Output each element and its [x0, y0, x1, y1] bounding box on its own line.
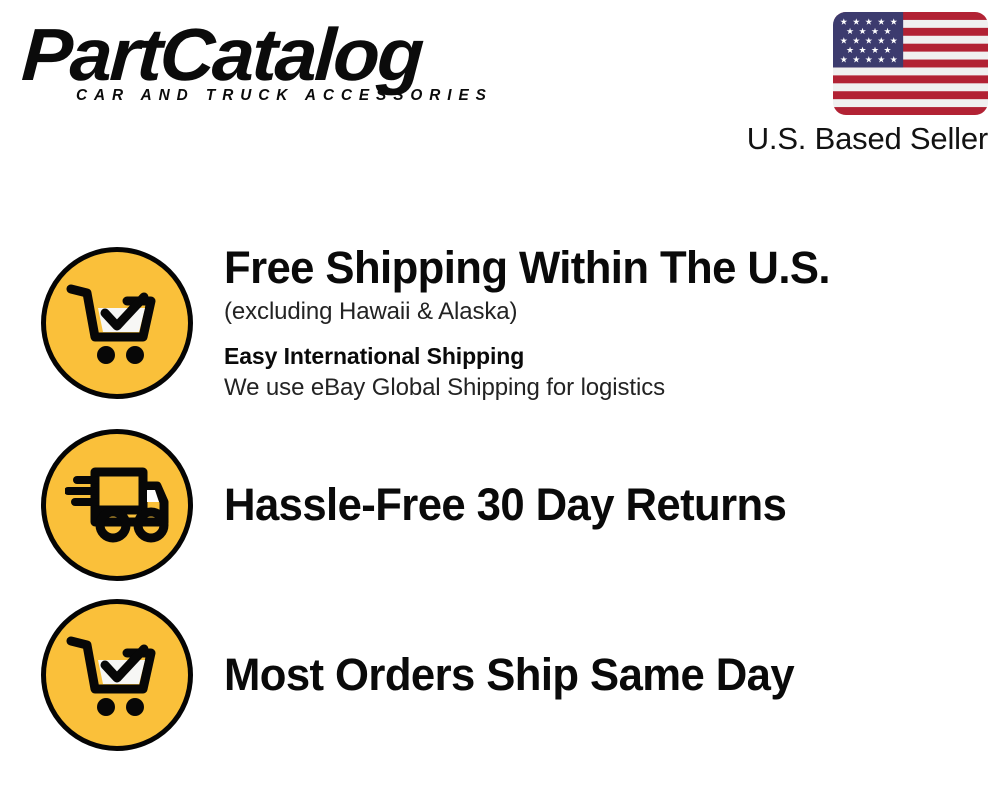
- brand-logo[interactable]: PartCatalog CAR AND TRUCK ACCESSORIES: [22, 18, 492, 113]
- delivery-truck-icon: [41, 429, 193, 581]
- feature-extra-text: We use eBay Global Shipping for logistic…: [224, 372, 980, 403]
- shopping-cart-check-icon: [41, 599, 193, 751]
- feature-row-returns: Hassle-Free 30 Day Returns: [0, 420, 1000, 590]
- us-flag-icon: [833, 12, 988, 115]
- feature-title: Most Orders Ship Same Day: [224, 650, 957, 700]
- brand-wordmark: PartCatalog: [20, 18, 508, 92]
- feature-text-returns: Hassle-Free 30 Day Returns: [224, 480, 1000, 530]
- feature-text-same-day-ship: Most Orders Ship Same Day: [224, 650, 1000, 700]
- feature-title: Hassle-Free 30 Day Returns: [224, 480, 957, 530]
- features-list: Free Shipping Within The U.S. (excluding…: [0, 225, 1000, 760]
- us-based-seller-label: U.S. Based Seller: [688, 121, 988, 157]
- brand-tagline: CAR AND TRUCK ACCESSORIES: [76, 88, 493, 104]
- feature-row-free-shipping: Free Shipping Within The U.S. (excluding…: [0, 225, 1000, 420]
- shopping-cart-check-icon: [41, 247, 193, 399]
- feature-title: Free Shipping Within The U.S.: [224, 243, 957, 293]
- feature-subtitle: (excluding Hawaii & Alaska): [224, 296, 980, 328]
- us-based-seller-badge: U.S. Based Seller: [688, 12, 988, 157]
- page-header: PartCatalog CAR AND TRUCK ACCESSORIES: [0, 0, 1000, 180]
- feature-text-free-shipping: Free Shipping Within The U.S. (excluding…: [224, 243, 1000, 403]
- feature-extra-heading: Easy International Shipping: [224, 341, 980, 371]
- feature-row-same-day-ship: Most Orders Ship Same Day: [0, 590, 1000, 760]
